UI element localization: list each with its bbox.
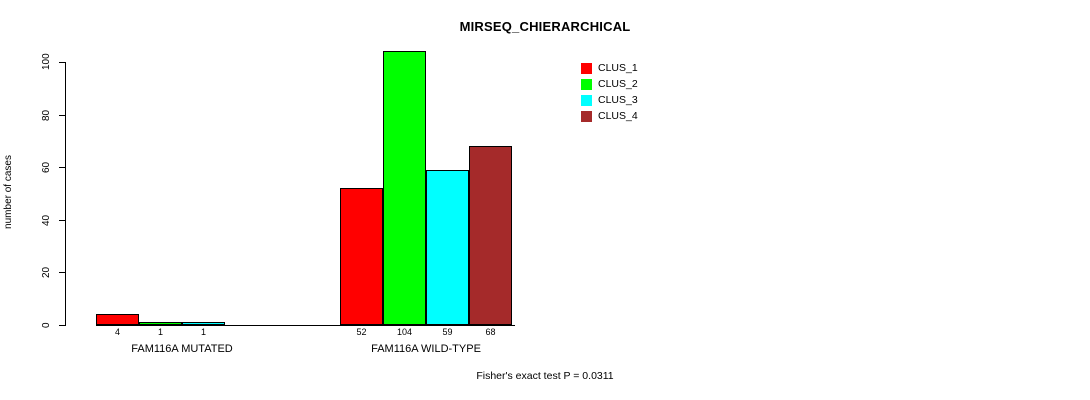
legend-item-label: CLUS_1: [598, 63, 638, 74]
bar-value-label: 1: [182, 327, 225, 337]
legend-color-swatch: [581, 63, 592, 74]
legend-item-label: CLUS_2: [598, 79, 638, 90]
legend-color-swatch: [581, 79, 592, 90]
legend-item[interactable]: CLUS_4: [581, 108, 638, 124]
bar[interactable]: [469, 146, 512, 325]
bar-value-label: 52: [340, 327, 383, 337]
y-axis-tick: [59, 115, 65, 116]
chart-title: MIRSEQ_CHIERARCHICAL: [0, 19, 1090, 34]
y-axis-tick: [59, 325, 65, 326]
y-axis-tick-label: 100: [42, 50, 54, 74]
legend-item-label: CLUS_4: [598, 111, 638, 122]
y-axis-tick: [59, 272, 65, 273]
bar-value-label: 59: [426, 327, 469, 337]
legend-item[interactable]: CLUS_1: [581, 60, 638, 76]
y-axis-tick-label: 20: [42, 260, 54, 284]
bar[interactable]: [340, 188, 383, 325]
legend-item[interactable]: CLUS_2: [581, 76, 638, 92]
chart-canvas: MIRSEQ_CHIERARCHICAL 020406080100 number…: [0, 0, 1090, 400]
y-axis-tick: [59, 220, 65, 221]
y-axis-tick-label: 0: [42, 313, 54, 337]
y-axis-tick: [59, 62, 65, 63]
statistical-test-note: Fisher's exact test P = 0.0311: [0, 370, 1090, 382]
y-axis-tick-label: 80: [42, 103, 54, 127]
legend-item-label: CLUS_3: [598, 95, 638, 106]
bar[interactable]: [426, 170, 469, 325]
bar-value-label: 4: [96, 327, 139, 337]
y-axis-tick: [59, 167, 65, 168]
legend-color-swatch: [581, 111, 592, 122]
bar-value-label: 1: [139, 327, 182, 337]
y-axis-tick-label: 40: [42, 208, 54, 232]
bar-value-label: 68: [469, 327, 512, 337]
bar[interactable]: [383, 51, 426, 325]
legend-item[interactable]: CLUS_3: [581, 92, 638, 108]
group-axis-label: FAM116A MUTATED: [96, 343, 268, 355]
y-axis-tick-label: 60: [42, 155, 54, 179]
legend: CLUS_1CLUS_2CLUS_3CLUS_4: [581, 60, 638, 124]
x-axis-line: [96, 325, 515, 326]
y-axis-line: [65, 62, 66, 326]
bar[interactable]: [96, 314, 139, 325]
bar[interactable]: [139, 322, 182, 325]
y-axis-title: number of cases: [3, 155, 14, 229]
legend-color-swatch: [581, 95, 592, 106]
bar-value-label: 104: [383, 327, 426, 337]
bar[interactable]: [182, 322, 225, 325]
group-axis-label: FAM116A WILD-TYPE: [340, 343, 512, 355]
